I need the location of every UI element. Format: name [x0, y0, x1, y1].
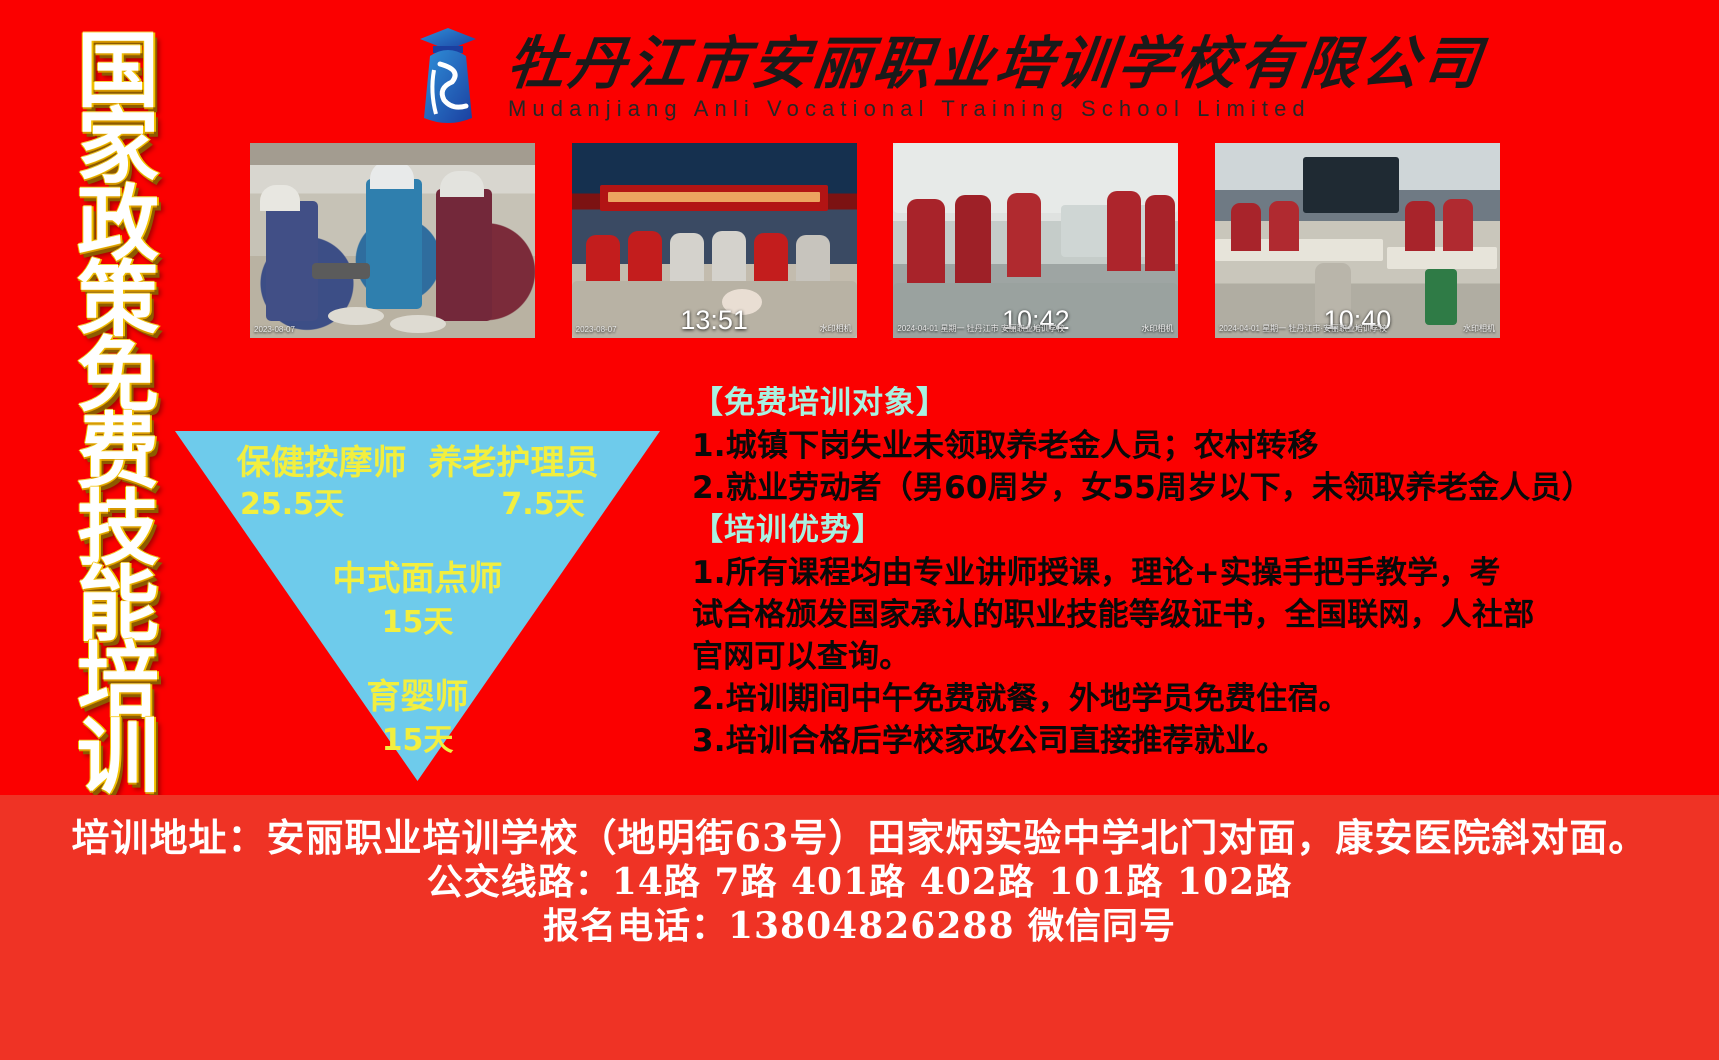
advantage-line: 1.所有课程均由专业讲师授课，理论+实操手把手教学，考: [692, 552, 1692, 594]
eligibility-line: 1.城镇下岗失业未领取养老金人员；农村转移: [692, 425, 1692, 467]
contact-footer: 培训地址：安丽职业培训学校（地明街63号）田家炳实验中学北门对面，康安医院斜对面…: [0, 795, 1719, 1060]
photo-date-stamp: 2023-08-07: [576, 325, 617, 334]
photo-elderly-care-room: 10:42 2024-04-01 星期一 牡丹江市 安丽职业培训学校 水印相机: [893, 143, 1178, 338]
eligibility-line: 2.就业劳动者（男60周岁，女55周岁以下，未领取养老金人员）: [692, 467, 1692, 509]
course-duration-pastry: 15天: [175, 597, 660, 641]
info-panel: 【免费培训对象】 1.城镇下岗失业未领取养老金人员；农村转移 2.就业劳动者（男…: [692, 383, 1692, 763]
advantage-line: 官网可以查询。: [692, 636, 1692, 678]
vertical-headline-char: 政: [77, 187, 159, 263]
course-triangle: 保健按摩师 养老护理员 25.5天 7.5天 中式面点师 15天 育婴师 15天: [175, 431, 660, 781]
poster-root: 国 家 政 策 免 费 技 能 培 训 牡: [0, 0, 1719, 1060]
photo-date-stamp: 2023-08-07: [254, 325, 295, 334]
vertical-headline: 国 家 政 策 免 费 技 能 培 训: [62, 34, 174, 797]
company-name-cn: 牡丹江市安丽职业培训学校有限公司: [504, 34, 1487, 93]
photo-date-stamp: 2024-04-01 星期一 牡丹江市 安丽职业培训学校: [897, 323, 1065, 334]
course-title-pastry: 中式面点师: [175, 551, 660, 600]
photo-watermark: 水印相机: [1463, 323, 1495, 334]
vertical-headline-char: 免: [77, 339, 159, 415]
course-row-1: 保健按摩师 养老护理员: [175, 435, 660, 484]
photo-classroom-lecture: 10:40 2024-04-01 星期一 牡丹江市·安丽职业培训学校 水印相机: [1215, 143, 1500, 338]
photo-group-with-banner: 13:51 2023-08-07 水印相机: [572, 143, 857, 338]
brand-header: 牡丹江市安丽职业培训学校有限公司 Mudanjiang Anli Vocatio…: [400, 18, 1300, 138]
section-heading-eligibility: 【免费培训对象】: [692, 383, 1692, 424]
photo-watermark: 水印相机: [820, 323, 852, 334]
vertical-headline-char: 家: [77, 110, 159, 186]
course-duration-infantcare: 15天: [175, 715, 660, 759]
photo-watermark: 水印相机: [1141, 323, 1173, 334]
photo-pastry-cooking-class: 2023-08-07: [250, 143, 535, 338]
vertical-headline-char: 能: [77, 568, 159, 644]
triangle-text-layer: 保健按摩师 养老护理员 25.5天 7.5天 中式面点师 15天 育婴师 15天: [175, 431, 660, 781]
vertical-headline-char: 国: [77, 34, 159, 110]
course-duration-massage: 25.5天: [210, 479, 375, 523]
photo-strip: 2023-08-07 13:51 2023-08-07 水印相机: [250, 143, 1500, 338]
photo-date-stamp: 2024-04-01 星期一 牡丹江市·安丽职业培训学校: [1219, 323, 1387, 334]
footer-bus-routes: 公交线路：14路 7路 401路 402路 101路 102路: [427, 861, 1292, 905]
course-title-eldercare: 养老护理员: [429, 435, 599, 484]
course-title-infantcare: 育婴师: [175, 669, 660, 718]
course-duration-eldercare: 7.5天: [461, 479, 626, 523]
vertical-headline-char: 培: [77, 644, 159, 720]
footer-address: 培训地址：安丽职业培训学校（地明街63号）田家炳实验中学北门对面，康安医院斜对面…: [72, 815, 1648, 861]
course-durations-row-1: 25.5天 7.5天: [175, 479, 660, 523]
advantage-line: 试合格颁发国家承认的职业技能等级证书，全国联网，人社部: [692, 594, 1692, 636]
advantage-line: 2.培训期间中午免费就餐，外地学员免费住宿。: [692, 678, 1692, 720]
vertical-headline-char: 训: [77, 720, 159, 796]
section-heading-advantages: 【培训优势】: [692, 510, 1692, 551]
advantage-line: 3.培训合格后学校家政公司直接推荐就业。: [692, 720, 1692, 762]
vertical-headline-char: 费: [77, 415, 159, 491]
footer-phone: 报名电话：13804826288 微信同号: [543, 905, 1176, 949]
course-title-massage: 保健按摩师: [237, 435, 407, 484]
graduation-cap-logo-icon: [400, 26, 496, 130]
vertical-headline-char: 策: [77, 263, 159, 339]
company-name-en: Mudanjiang Anli Vocational Training Scho…: [508, 96, 1484, 122]
vertical-headline-char: 技: [77, 492, 159, 568]
